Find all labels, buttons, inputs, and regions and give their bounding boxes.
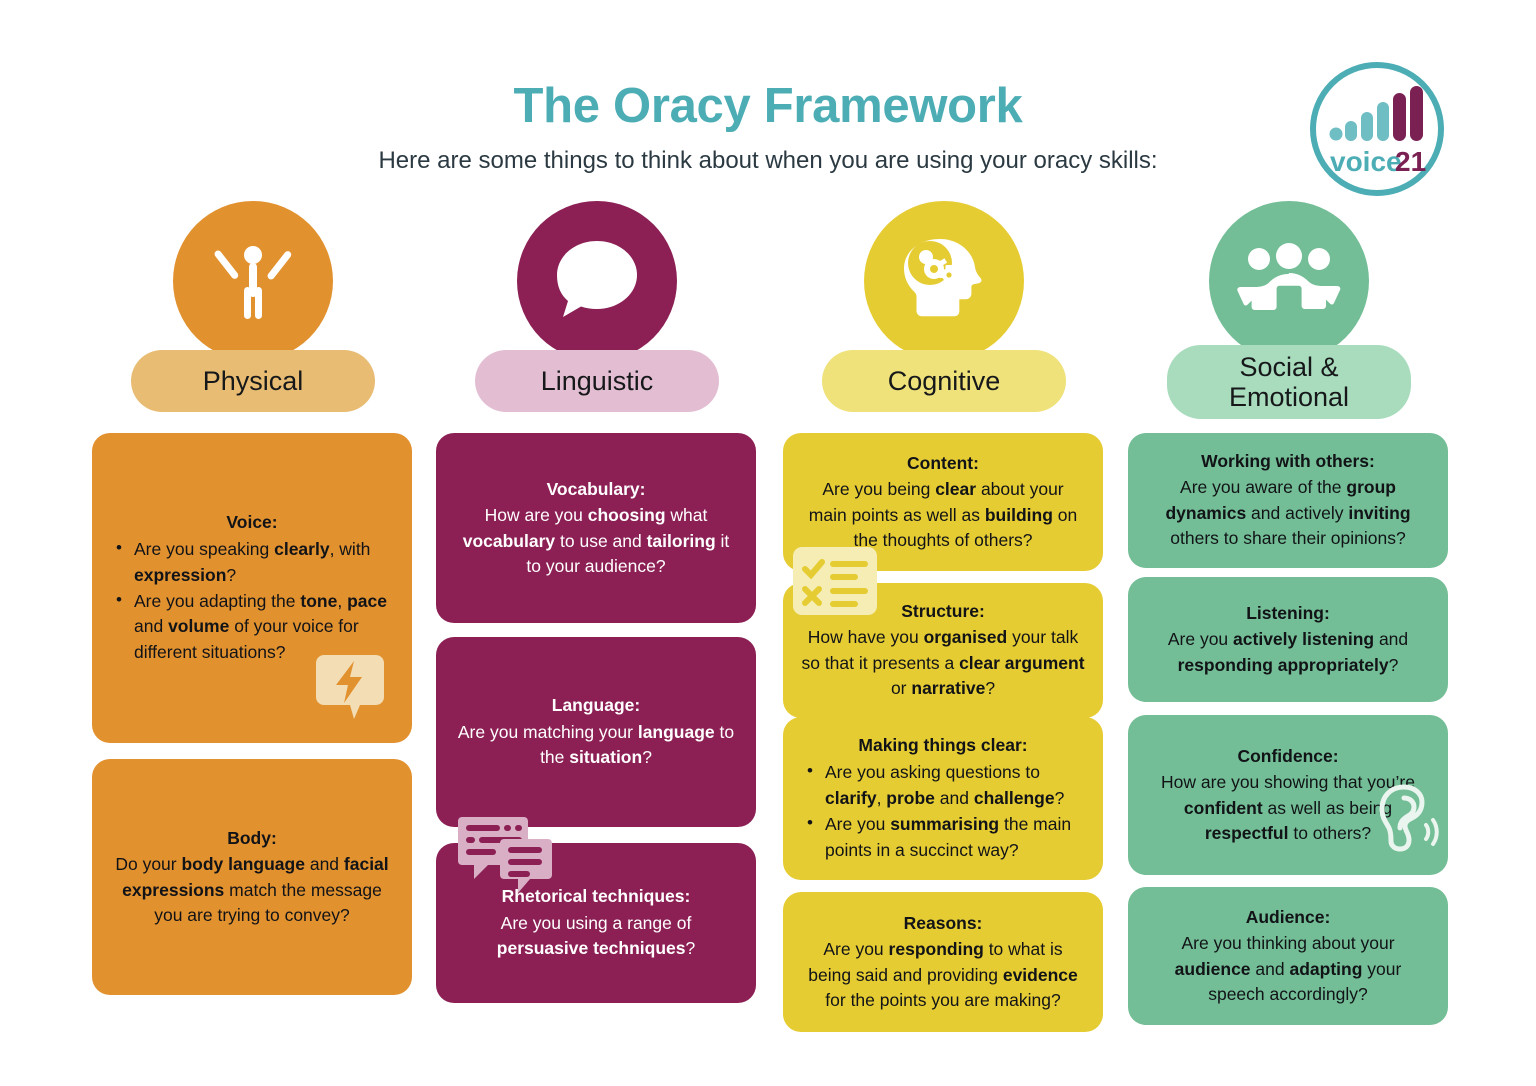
strand-head-social-emotional: Social & Emotional bbox=[1124, 195, 1454, 433]
card-heading: Structure: bbox=[801, 599, 1085, 624]
voice-21-logo-mark: voice 21 bbox=[1316, 68, 1438, 190]
strand-label-cognitive[interactable]: Cognitive bbox=[822, 350, 1066, 412]
card-body: Are you responding to what is being said… bbox=[801, 937, 1085, 1013]
card-cognitive-0[interactable]: Content:Are you being clear about your m… bbox=[783, 433, 1103, 571]
strand-head-cognitive: Cognitive bbox=[779, 195, 1109, 433]
person-arms-raised-icon bbox=[173, 201, 333, 361]
card-heading: Vocabulary: bbox=[454, 477, 738, 502]
strand-cards-cognitive: Content:Are you being clear about your m… bbox=[779, 433, 1109, 1083]
card-bullet-item: Are you summarising the main points in a… bbox=[801, 812, 1085, 863]
card-heading: Content: bbox=[801, 451, 1085, 476]
card-body: Are you actively listening and respondin… bbox=[1146, 627, 1430, 678]
card-body: Are you thinking about your audience and… bbox=[1146, 931, 1430, 1007]
card-body: Are you using a range of persuasive tech… bbox=[454, 911, 738, 962]
card-bullet-item: Are you speaking clearly, with expressio… bbox=[110, 537, 394, 588]
strand-columns: PhysicalVoice:Are you speaking clearly, … bbox=[0, 195, 1536, 1086]
card-cognitive-3[interactable]: Reasons:Are you responding to what is be… bbox=[783, 892, 1103, 1032]
page-title: The Oracy Framework bbox=[0, 78, 1536, 134]
card-heading: Language: bbox=[454, 693, 738, 718]
card-body: How have you organised your talk so that… bbox=[801, 625, 1085, 701]
card-physical-0[interactable]: Voice:Are you speaking clearly, with exp… bbox=[92, 433, 412, 743]
card-linguistic-1[interactable]: Language:Are you matching your language … bbox=[436, 637, 756, 827]
card-body: Are you aware of the group dynamics and … bbox=[1146, 475, 1430, 551]
card-heading: Body: bbox=[110, 826, 394, 851]
three-people-group-icon bbox=[1209, 201, 1369, 361]
voice-21-logo: voice 21 bbox=[1310, 62, 1444, 196]
strand-cards-physical: Voice:Are you speaking clearly, with exp… bbox=[88, 433, 418, 1083]
logo-word-21: 21 bbox=[1395, 146, 1426, 177]
card-heading: Audience: bbox=[1146, 905, 1430, 930]
card-heading: Reasons: bbox=[801, 911, 1085, 936]
card-social-emotional-2[interactable]: Confidence:How are you showing that you’… bbox=[1128, 715, 1448, 875]
card-physical-1[interactable]: Body:Do your body language and facial ex… bbox=[92, 759, 412, 995]
card-body: How are you showing that you’re confiden… bbox=[1146, 770, 1430, 846]
strand-head-linguistic: Linguistic bbox=[432, 195, 762, 433]
card-social-emotional-0[interactable]: Working with others:Are you aware of the… bbox=[1128, 433, 1448, 568]
card-heading: Rhetorical techniques: bbox=[454, 884, 738, 909]
card-cognitive-2[interactable]: Making things clear:Are you asking quest… bbox=[783, 717, 1103, 880]
card-social-emotional-3[interactable]: Audience:Are you thinking about your aud… bbox=[1128, 887, 1448, 1025]
card-social-emotional-1[interactable]: Listening:Are you actively listening and… bbox=[1128, 577, 1448, 702]
head-with-gears-icon bbox=[864, 201, 1024, 361]
card-bullet-item: Are you asking questions to clarify, pro… bbox=[801, 760, 1085, 811]
card-linguistic-0[interactable]: Vocabulary:How are you choosing what voc… bbox=[436, 433, 756, 623]
strand-column-cognitive: CognitiveContent:Are you being clear abo… bbox=[779, 195, 1109, 1083]
strand-label-linguistic[interactable]: Linguistic bbox=[475, 350, 719, 412]
card-heading: Voice: bbox=[110, 510, 394, 535]
card-body: Do your body language and facial express… bbox=[110, 852, 394, 928]
speech-bubble-icon bbox=[517, 201, 677, 361]
card-body: Are you matching your language to the si… bbox=[454, 720, 738, 771]
card-heading: Listening: bbox=[1146, 601, 1430, 626]
card-bullet-item: Are you adapting the tone, pace and volu… bbox=[110, 589, 394, 665]
card-cognitive-1[interactable]: Structure:How have you organised your ta… bbox=[783, 583, 1103, 718]
strand-cards-social-emotional: Working with others:Are you aware of the… bbox=[1124, 433, 1454, 1083]
card-body: How are you choosing what vocabulary to … bbox=[454, 503, 738, 579]
card-linguistic-2[interactable]: Rhetorical techniques:Are you using a ra… bbox=[436, 843, 756, 1003]
card-bullet-list: Are you speaking clearly, with expressio… bbox=[110, 537, 394, 665]
card-heading: Working with others: bbox=[1146, 449, 1430, 474]
strand-cards-linguistic: Vocabulary:How are you choosing what voc… bbox=[432, 433, 762, 1083]
page-header: The Oracy Framework Here are some things… bbox=[0, 0, 1536, 195]
strand-label-social-emotional[interactable]: Social & Emotional bbox=[1167, 345, 1411, 419]
strand-head-physical: Physical bbox=[88, 195, 418, 433]
logo-word-voice: voice bbox=[1330, 146, 1402, 177]
strand-column-social-emotional: Social & EmotionalWorking with others:Ar… bbox=[1124, 195, 1454, 1083]
strand-column-linguistic: LinguisticVocabulary:How are you choosin… bbox=[432, 195, 762, 1083]
strand-column-physical: PhysicalVoice:Are you speaking clearly, … bbox=[88, 195, 418, 1083]
card-body: Are you being clear about your main poin… bbox=[801, 477, 1085, 553]
card-bullet-list: Are you asking questions to clarify, pro… bbox=[801, 760, 1085, 863]
page-subtitle: Here are some things to think about when… bbox=[0, 147, 1536, 175]
card-heading: Confidence: bbox=[1146, 744, 1430, 769]
card-heading: Making things clear: bbox=[801, 733, 1085, 758]
strand-label-physical[interactable]: Physical bbox=[131, 350, 375, 412]
